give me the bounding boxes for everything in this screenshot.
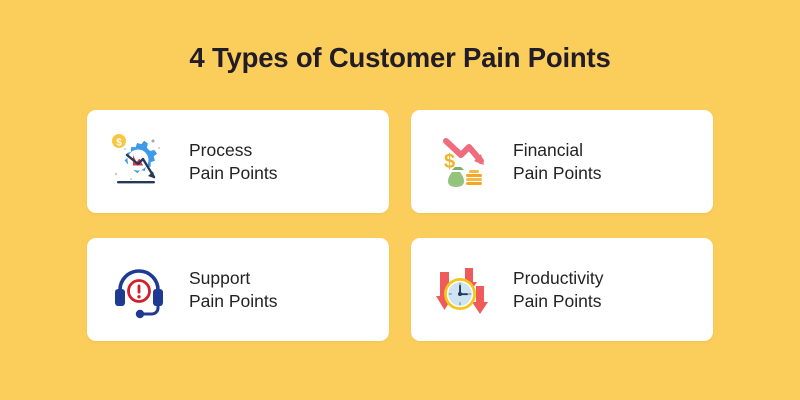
headset-alert-icon — [107, 258, 171, 322]
money-bag-declining-arrow-icon: $ — [431, 130, 495, 194]
card-financial[interactable]: $ Financial Pain Points — [411, 110, 713, 213]
page-title: 4 Types of Customer Pain Points — [0, 42, 800, 74]
card-support[interactable]: Support Pain Points — [87, 238, 389, 341]
card-label-financial: Financial Pain Points — [513, 139, 602, 185]
gear-declining-chart-icon: $ — [107, 130, 171, 194]
card-label-support: Support Pain Points — [189, 267, 278, 313]
infographic-root: 4 Types of Customer Pain Points $ Proces… — [0, 0, 800, 400]
card-label-productivity: Productivity Pain Points — [513, 267, 603, 313]
clock-down-arrows-icon — [431, 258, 495, 322]
card-productivity[interactable]: Productivity Pain Points — [411, 238, 713, 341]
svg-text:$: $ — [116, 137, 122, 148]
card-label-process: Process Pain Points — [189, 139, 278, 185]
pain-points-grid: $ Process Pain Points $ — [87, 110, 713, 341]
card-process[interactable]: $ Process Pain Points — [87, 110, 389, 213]
